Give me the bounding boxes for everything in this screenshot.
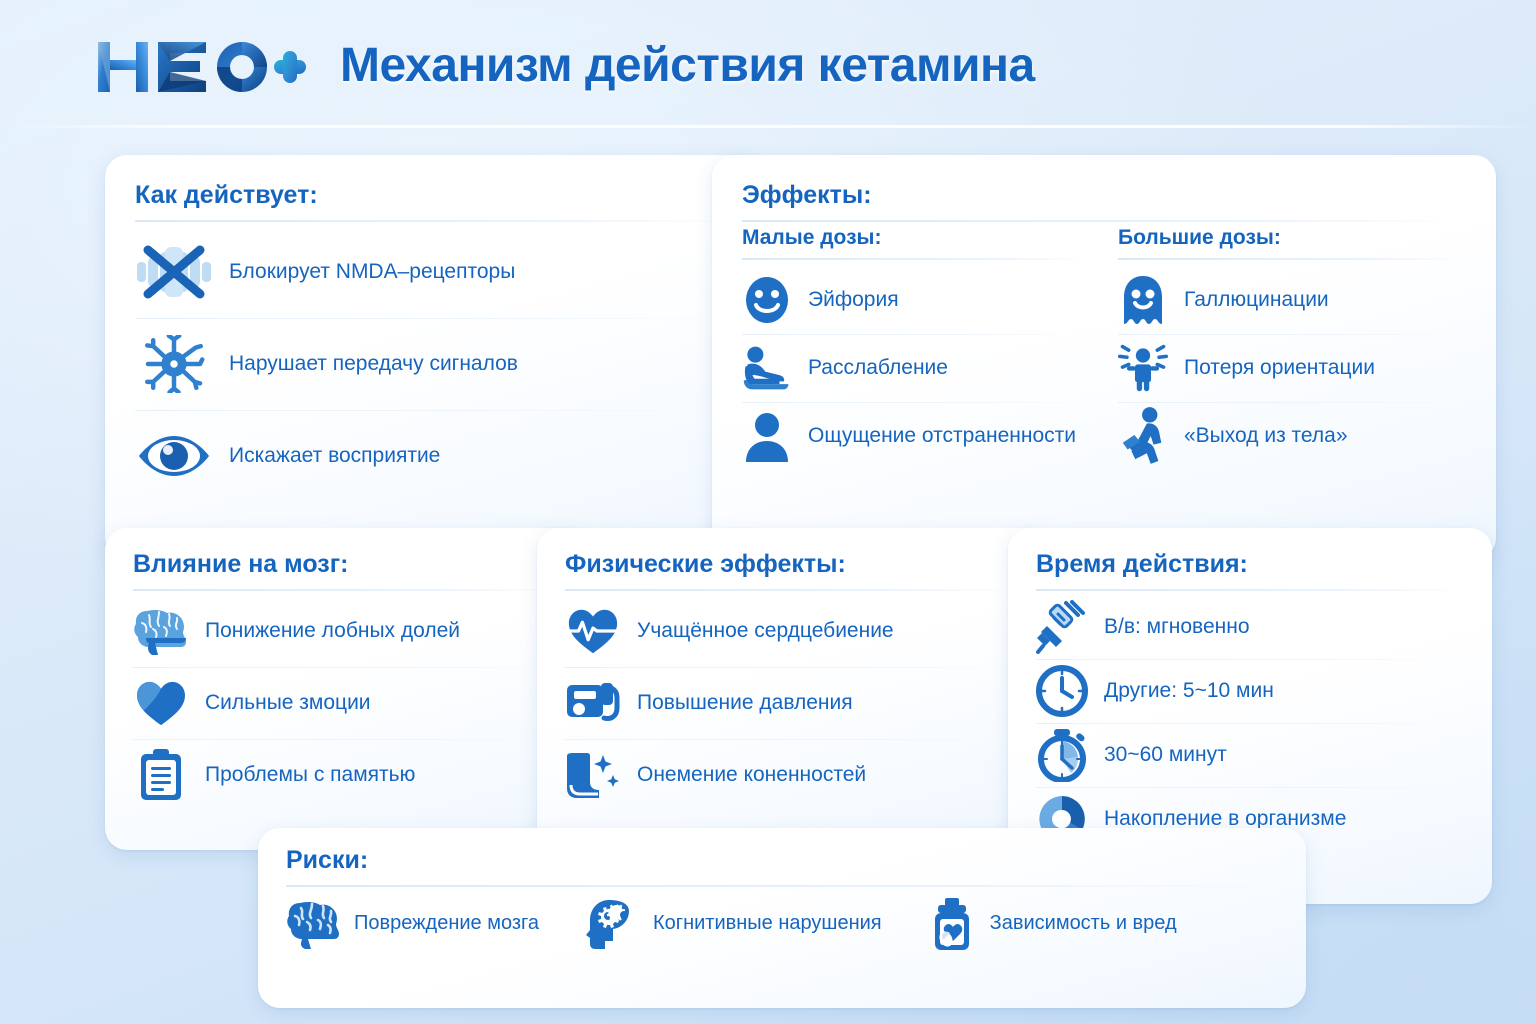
divider xyxy=(286,885,1278,887)
list-item[interactable]: Учащённое сердцебиение xyxy=(565,595,1017,667)
numb-foot-icon xyxy=(565,749,621,801)
list-item[interactable]: Онемение коненностей xyxy=(565,739,1017,811)
card-title-timing: Время действия: xyxy=(1036,550,1464,589)
list-item-label: Блокирует NMDA–рецепторы xyxy=(229,260,515,285)
list-item[interactable]: Другие: 5~10 мин xyxy=(1036,659,1464,723)
blood-pressure-monitor-icon xyxy=(565,677,621,729)
list-item-label: Зависимость и вред xyxy=(990,912,1177,936)
damaged-brain-icon xyxy=(286,899,342,949)
list-item-label: Учащённое сердцебиение xyxy=(637,619,894,644)
disoriented-person-icon xyxy=(1118,342,1168,394)
eye-icon xyxy=(135,427,213,485)
list-item-label: Сильные змоции xyxy=(205,691,371,716)
page-title: Механизм действия кетамина xyxy=(340,38,1035,93)
card-effects: Эффекты: Малые дозы: Эйфория xyxy=(712,155,1496,560)
smiley-face-icon xyxy=(742,274,792,326)
ghost-icon xyxy=(1118,274,1168,326)
divider xyxy=(135,220,730,222)
neo-plus-logo xyxy=(96,36,306,98)
list-item[interactable]: Искажает восприятие xyxy=(135,410,730,502)
list-item-label: Повышение давления xyxy=(637,691,853,716)
syringe-icon xyxy=(1036,600,1088,654)
list-item[interactable]: Ощущение отстраненности xyxy=(742,402,1090,470)
list-item-label: «Выход из тела» xyxy=(1184,424,1348,449)
card-physical-effects: Физические эффекты: Учащённое сердцебиен… xyxy=(537,528,1045,850)
list-item-label: Нарушает передачу сигналов xyxy=(229,352,518,377)
divider xyxy=(742,220,1466,222)
list-item[interactable]: Когнитивные нарушения xyxy=(585,898,882,950)
list-item[interactable]: В/в: мгновенно xyxy=(1036,595,1464,659)
neuron-icon xyxy=(135,335,213,393)
list-item[interactable]: 30~60 минут xyxy=(1036,723,1464,787)
list-item-label: Другие: 5~10 мин xyxy=(1104,679,1274,704)
list-item-label: Эйфория xyxy=(808,288,899,313)
list-item[interactable]: Галлюцинации xyxy=(1118,266,1466,334)
list-item[interactable]: «Выход из тела» xyxy=(1118,402,1466,470)
list-item-label: Онемение коненностей xyxy=(637,763,866,788)
head-gears-icon xyxy=(585,898,641,950)
list-item-label: Понижение лобных долей xyxy=(205,619,460,644)
list-item-label: Расслабление xyxy=(808,356,948,381)
list-item[interactable]: Повышение давления xyxy=(565,667,1017,739)
card-title-physical: Физические эффекты: xyxy=(565,550,1017,589)
list-item-label: Искажает восприятие xyxy=(229,444,440,469)
list-item[interactable]: Нарушает передачу сигналов xyxy=(135,318,730,410)
list-item-label: 30~60 минут xyxy=(1104,743,1227,768)
effects-column-low-doses: Малые дозы: Эйфория xyxy=(742,226,1090,470)
card-title-risks: Риски: xyxy=(286,846,1278,885)
list-item-label: Проблемы с памятью xyxy=(205,763,415,788)
divider xyxy=(565,589,1017,591)
card-title-effects: Эффекты: xyxy=(742,181,1466,220)
list-item[interactable]: Зависимость и вред xyxy=(928,897,1177,951)
card-risks: Риски: Повреждение мозга xyxy=(258,828,1306,1008)
list-item[interactable]: Расслабление xyxy=(742,334,1090,402)
card-title-brain: Влияние на мозг: xyxy=(133,550,558,589)
list-item-label: В/в: мгновенно xyxy=(1104,615,1250,640)
floating-person-icon xyxy=(1118,405,1168,467)
stopwatch-icon xyxy=(1036,728,1088,782)
list-item-label: Когнитивные нарушения xyxy=(653,912,882,936)
list-item-label: Повреждение мозга xyxy=(354,912,539,936)
brain-icon xyxy=(133,607,189,655)
list-item[interactable]: Проблемы с памятью xyxy=(133,739,558,811)
heart-pulse-icon xyxy=(565,606,621,656)
list-item[interactable]: Эйфория xyxy=(742,266,1090,334)
card-brain-effects: Влияние на мозг: Понижение лобных долей xyxy=(105,528,586,850)
list-item-label: Ощущение отстраненности xyxy=(808,424,1076,449)
divider xyxy=(1118,258,1466,260)
subtitle-high-doses: Большие дозы: xyxy=(1118,226,1466,250)
divider xyxy=(133,589,558,591)
clipboard-icon xyxy=(133,748,189,802)
list-item[interactable]: Понижение лобных долей xyxy=(133,595,558,667)
divider xyxy=(1036,589,1464,591)
divider xyxy=(742,258,1090,260)
list-item[interactable]: Блокирует NMDA–рецепторы xyxy=(135,226,730,318)
subtitle-low-doses: Малые дозы: xyxy=(742,226,1090,250)
card-title-how: Как действует: xyxy=(135,181,730,220)
person-silhouette-icon xyxy=(742,410,792,462)
list-item-label: Потеря ориентации xyxy=(1184,356,1375,381)
list-item[interactable]: Повреждение мозга xyxy=(286,899,539,949)
effects-column-high-doses: Большие дозы: Галлюцинации xyxy=(1118,226,1466,470)
clock-icon xyxy=(1036,665,1088,717)
card-how-it-works: Как действует: Блокирует NMDA–ре xyxy=(105,155,760,560)
blocked-receptor-icon xyxy=(135,243,213,301)
pill-bottle-icon xyxy=(928,897,978,951)
reclining-person-icon xyxy=(742,342,792,394)
list-item[interactable]: Сильные змоции xyxy=(133,667,558,739)
list-item-label: Галлюцинации xyxy=(1184,288,1329,313)
heart-icon xyxy=(133,679,189,727)
page-header: Механизм действия кетамина xyxy=(0,0,1536,128)
list-item[interactable]: Потеря ориентации xyxy=(1118,334,1466,402)
